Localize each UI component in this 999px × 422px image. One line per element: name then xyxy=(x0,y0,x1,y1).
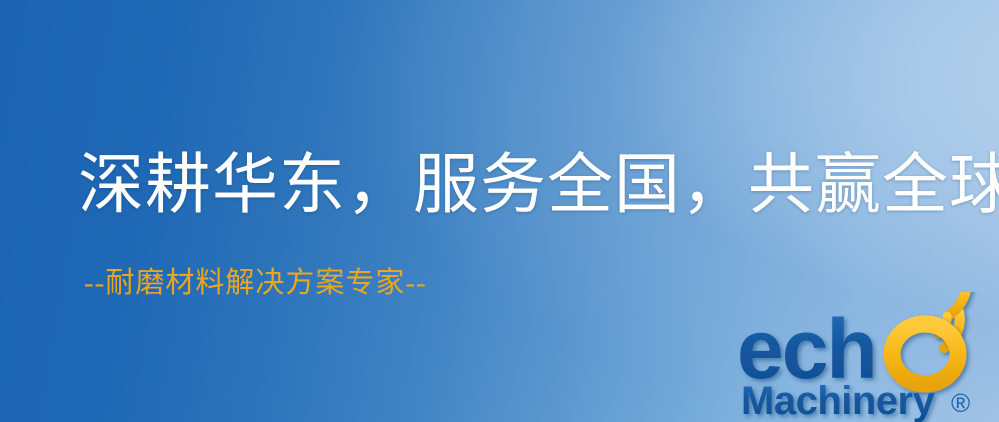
promotional-banner: 深耕华东，服务全国，共赢全球 --耐磨材料解决方案专家-- xyxy=(0,0,999,422)
registered-trademark-icon: ® xyxy=(951,388,970,418)
logo-tagline: Machinery xyxy=(741,379,936,422)
logo-wordmark-o xyxy=(892,324,958,384)
page-title: 深耕华东，服务全国，共赢全球 xyxy=(78,146,948,226)
echo-machinery-logo: ech Machinery ® xyxy=(735,292,993,422)
banner-subtitle: --耐磨材料解决方案专家-- xyxy=(84,264,427,302)
